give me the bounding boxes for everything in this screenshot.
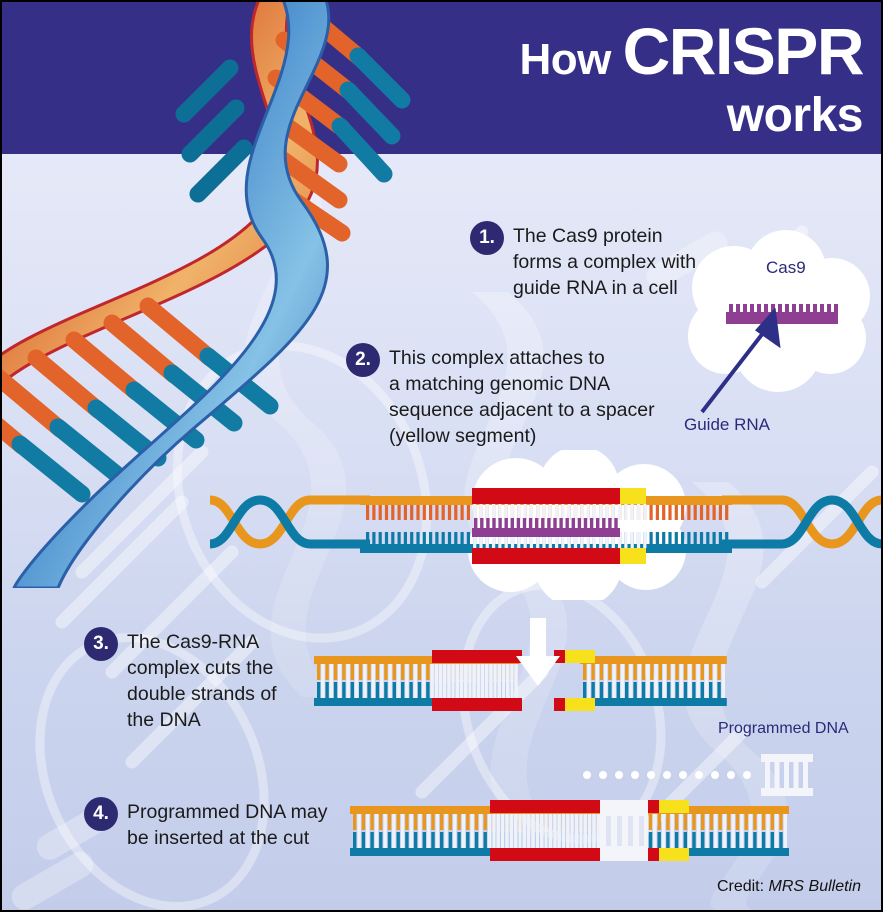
step-4-text: Programmed DNA may be inserted at the cu… xyxy=(127,797,327,852)
guide-rna-arrow-icon xyxy=(674,308,804,418)
main-dna-diagram xyxy=(210,470,882,587)
cut-arrow-icon xyxy=(510,618,566,693)
step-3-badge: 3. xyxy=(84,627,118,661)
step-3: 3. The Cas9-RNA complex cuts the double … xyxy=(84,627,277,734)
title-crispr: CRISPR xyxy=(623,14,863,88)
step-4-badge: 4. xyxy=(84,797,118,831)
step-3-text: The Cas9-RNA complex cuts the double str… xyxy=(127,627,277,734)
step-1-text: The Cas9 protein forms a complex with gu… xyxy=(513,221,696,302)
cas9-label: Cas9 xyxy=(766,258,806,278)
programmed-dna-fragment xyxy=(759,750,815,805)
step-1-badge: 1. xyxy=(470,221,504,255)
infographic-poster: How CRISPR works xyxy=(0,0,883,912)
programmed-dna-label: Programmed DNA xyxy=(718,720,849,738)
page-title: How CRISPR works xyxy=(520,18,863,140)
step4-dna-diagram xyxy=(350,800,836,867)
step-4: 4. Programmed DNA may be inserted at the… xyxy=(84,797,327,852)
step-1: 1. The Cas9 protein forms a complex with… xyxy=(470,221,696,302)
step-2: 2. This complex attaches to a matching g… xyxy=(346,343,655,450)
title-line-2: works xyxy=(520,92,863,140)
title-prefix: How xyxy=(520,35,623,84)
title-line-1: How CRISPR xyxy=(520,18,863,84)
credit-source: MRS Bulletin xyxy=(769,878,861,895)
credit-prefix: Credit: xyxy=(717,878,769,895)
credit-line: Credit: MRS Bulletin xyxy=(717,878,861,896)
guide-rna-label: Guide RNA xyxy=(684,415,770,435)
step-2-text: This complex attaches to a matching geno… xyxy=(389,343,655,450)
step-2-badge: 2. xyxy=(346,343,380,377)
programmed-dna-dot-trail xyxy=(582,767,758,785)
